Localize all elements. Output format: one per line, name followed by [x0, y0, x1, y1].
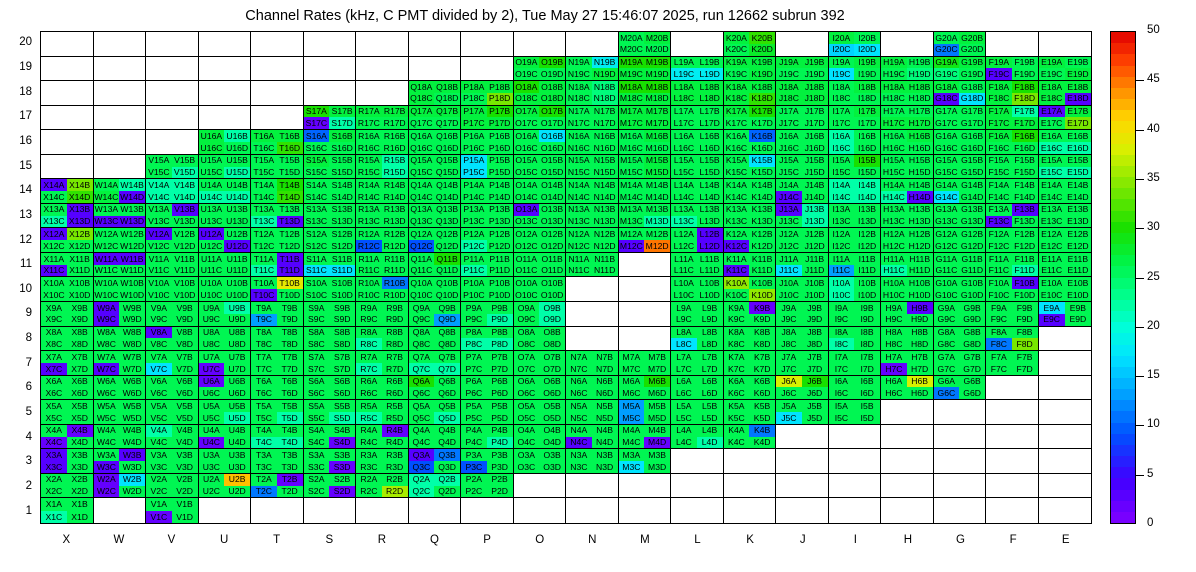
channel-V9C: V9C: [146, 314, 172, 326]
channel-O3D: O3D: [539, 461, 565, 473]
channel-R11A: R11A: [356, 253, 382, 265]
channel-T2B: T2B: [277, 474, 303, 486]
x-axis-label-X: X: [40, 534, 93, 546]
channel-I6A: I6A: [829, 376, 855, 388]
channel-R7D: R7D: [382, 363, 408, 375]
channel-S17D: S17D: [329, 117, 355, 129]
channel-J5B: J5B: [802, 400, 828, 412]
heatmap-cell: P10AP10BP10CP10D: [461, 277, 514, 302]
heatmap-cell: X3AX3BX3CX3D: [41, 449, 94, 474]
channel-F16A: F16A: [986, 130, 1012, 142]
channel-S17B: S17B: [329, 106, 355, 118]
channel-V10B: V10B: [172, 277, 198, 289]
channel-V13D: V13D: [172, 216, 198, 228]
channel-N19B: N19B: [592, 57, 618, 69]
channel-O19D: O19D: [539, 68, 565, 80]
channel-R13B: R13B: [382, 204, 408, 216]
heatmap-cell: U15AU15BU15CU15D: [199, 155, 252, 180]
y-axis-label-4: 4: [6, 431, 32, 443]
channel-Q16D: Q16D: [434, 142, 460, 154]
channel-R3C: R3C: [356, 461, 382, 473]
channel-S2A: S2A: [304, 474, 330, 486]
channel-P18C: P18C: [461, 93, 487, 105]
channel-N19C: N19C: [566, 68, 592, 80]
heatmap-cell: S17AS17BS17CS17D: [304, 106, 357, 131]
channel-F10B: F10B: [1012, 277, 1038, 289]
channel-V7C: V7C: [146, 363, 172, 375]
channel-X14D: X14D: [67, 191, 93, 203]
channel-P16D: P16D: [487, 142, 513, 154]
channel-H18D: H18D: [907, 93, 933, 105]
channel-G6C: G6C: [934, 387, 960, 399]
channel-R9C: R9C: [356, 314, 382, 326]
channel-K15D: K15D: [749, 167, 775, 179]
channel-S11D: S11D: [329, 265, 355, 277]
channel-V4B: V4B: [172, 425, 198, 437]
channel-M17D: M17D: [644, 117, 670, 129]
channel-N11C: N11C: [566, 265, 592, 277]
channel-E15A: E15A: [1039, 155, 1065, 167]
channel-Q15C: Q15C: [409, 167, 435, 179]
heatmap-cell: Q6AQ6BQ6CQ6D: [409, 376, 462, 401]
channel-U3A: U3A: [199, 449, 225, 461]
channel-H15D: H15D: [907, 167, 933, 179]
channel-H10C: H10C: [881, 289, 907, 301]
channel-T5A: T5A: [251, 400, 277, 412]
channel-N18A: N18A: [566, 81, 592, 93]
channel-V8A: V8A: [146, 327, 172, 339]
channel-J5C: J5C: [776, 412, 802, 424]
heatmap-cell: H8AH8BH8CH8D: [881, 327, 934, 352]
heatmap-cell: K15AK15BK15CK15D: [724, 155, 777, 180]
channel-U11A: U11A: [199, 253, 225, 265]
channel-O6D: O6D: [539, 387, 565, 399]
channel-O14B: O14B: [539, 179, 565, 191]
channel-X5C: X5C: [41, 412, 67, 424]
heatmap-cell: F7AF7BF7CF7D: [986, 351, 1039, 376]
channel-G7D: G7D: [959, 363, 985, 375]
heatmap-cell: X7AX7BX7CX7D: [41, 351, 94, 376]
y-axis-label-16: 16: [6, 135, 32, 147]
heatmap-cell: [514, 474, 567, 499]
heatmap-cell: [934, 474, 987, 499]
heatmap-cell: [1039, 474, 1092, 499]
heatmap-cell: J6AJ6BJ6CJ6D: [776, 376, 829, 401]
channel-R9D: R9D: [382, 314, 408, 326]
channel-V1D: V1D: [172, 511, 198, 523]
channel-M5B: M5B: [644, 400, 670, 412]
channel-T6D: T6D: [277, 387, 303, 399]
channel-M6A: M6A: [619, 376, 645, 388]
channel-J18D: J18D: [802, 93, 828, 105]
heatmap-cell: [776, 425, 829, 450]
colorbar-band: [1111, 300, 1135, 311]
channel-V12B: V12B: [172, 228, 198, 240]
channel-M17A: M17A: [619, 106, 645, 118]
channel-O3A: O3A: [514, 449, 540, 461]
channel-W3A: W3A: [94, 449, 120, 461]
channel-I15B: I15B: [854, 155, 880, 167]
heatmap-cell: N3AN3BN3CN3D: [566, 449, 619, 474]
heatmap-cell: J10AJ10BJ10CJ10D: [776, 277, 829, 302]
channel-E11C: E11C: [1039, 265, 1065, 277]
channel-L18B: L18B: [697, 81, 723, 93]
colorbar-band: [1111, 43, 1135, 54]
channel-N17C: N17C: [566, 117, 592, 129]
channel-R5C: R5C: [356, 412, 382, 424]
colorbar-label-15: 15: [1147, 369, 1160, 381]
heatmap-cell: [724, 449, 777, 474]
heatmap-cell: [41, 106, 94, 131]
channel-P7A: P7A: [461, 351, 487, 363]
channel-V8D: V8D: [172, 338, 198, 350]
channel-K19D: K19D: [749, 68, 775, 80]
channel-T9B: T9B: [277, 302, 303, 314]
channel-W8C: W8C: [94, 338, 120, 350]
heatmap-cell: P8AP8BP8CP8D: [461, 327, 514, 352]
channel-L18D: L18D: [697, 93, 723, 105]
channel-K14A: K14A: [724, 179, 750, 191]
heatmap-cell: K20AK20BK20CK20D: [724, 32, 777, 57]
colorbar-band: [1111, 121, 1135, 132]
heatmap-cell: H16AH16BH16CH16D: [881, 130, 934, 155]
channel-H11B: H11B: [907, 253, 933, 265]
channel-K14D: K14D: [749, 191, 775, 203]
channel-Q5C: Q5C: [409, 412, 435, 424]
channel-S3B: S3B: [329, 449, 355, 461]
heatmap-cell: M3AM3BM3CM3D: [619, 449, 672, 474]
channel-J19C: J19C: [776, 68, 802, 80]
channel-F15B: F15B: [1012, 155, 1038, 167]
channel-Q7C: Q7C: [409, 363, 435, 375]
channel-G11B: G11B: [959, 253, 985, 265]
channel-H6A: H6A: [881, 376, 907, 388]
heatmap-cell: W7AW7BW7CW7D: [94, 351, 147, 376]
channel-U6C: U6C: [199, 387, 225, 399]
channel-Q2A: Q2A: [409, 474, 435, 486]
channel-W14B: W14B: [119, 179, 145, 191]
channel-N16D: N16D: [592, 142, 618, 154]
channel-S3D: S3D: [329, 461, 355, 473]
channel-I13C: I13C: [829, 216, 855, 228]
y-axis-label-9: 9: [6, 307, 32, 319]
channel-S6B: S6B: [329, 376, 355, 388]
channel-F16C: F16C: [986, 142, 1012, 154]
channel-F9B: F9B: [1012, 302, 1038, 314]
heatmap-cell: O5AO5BO5CO5D: [514, 400, 567, 425]
colorbar-band: [1111, 155, 1135, 166]
heatmap-cell: P11AP11BP11CP11D: [461, 253, 514, 278]
heatmap-cell: E11AE11BE11CE11D: [1039, 253, 1092, 278]
channel-H17A: H17A: [881, 106, 907, 118]
channel-L19D: L19D: [697, 68, 723, 80]
channel-U12C: U12C: [199, 240, 225, 252]
channel-G19C: G19C: [934, 68, 960, 80]
channel-R2B: R2B: [382, 474, 408, 486]
channel-V5D: V5D: [172, 412, 198, 424]
heatmap-cell: M7AM7BM7CM7D: [619, 351, 672, 376]
channel-N4C: N4C: [566, 437, 592, 449]
channel-X5A: X5A: [41, 400, 67, 412]
channel-T5B: T5B: [277, 400, 303, 412]
heatmap-cell: T10AT10BT10CT10D: [251, 277, 304, 302]
channel-E19A: E19A: [1039, 57, 1065, 69]
channel-X11B: X11B: [67, 253, 93, 265]
channel-O13A: O13A: [514, 204, 540, 216]
channel-T13B: T13B: [277, 204, 303, 216]
heatmap-cell: [986, 498, 1039, 523]
channel-F15A: F15A: [986, 155, 1012, 167]
channel-U8A: U8A: [199, 327, 225, 339]
channel-V3C: V3C: [146, 461, 172, 473]
heatmap-cell: H17AH17BH17CH17D: [881, 106, 934, 131]
heatmap-cell: [461, 498, 514, 523]
channel-P12B: P12B: [487, 228, 513, 240]
channel-K12C: K12C: [724, 240, 750, 252]
channel-X13A: X13A: [41, 204, 67, 216]
channel-J11D: J11D: [802, 265, 828, 277]
channel-R8A: R8A: [356, 327, 382, 339]
channel-P5B: P5B: [487, 400, 513, 412]
channel-H18C: H18C: [881, 93, 907, 105]
colorbar-band: [1111, 54, 1135, 65]
channel-J14B: J14B: [802, 179, 828, 191]
channel-M16A: M16A: [619, 130, 645, 142]
channel-F11D: F11D: [1012, 265, 1038, 277]
channel-J14A: J14A: [776, 179, 802, 191]
channel-L4A: L4A: [671, 425, 697, 437]
channel-V13A: V13A: [146, 204, 172, 216]
channel-R9B: R9B: [382, 302, 408, 314]
channel-K20C: K20C: [724, 44, 750, 56]
channel-Q12D: Q12D: [434, 240, 460, 252]
channel-M15A: M15A: [619, 155, 645, 167]
channel-W13D: W13D: [119, 216, 145, 228]
heatmap-cell: [251, 81, 304, 106]
heatmap-cell: Q11AQ11BQ11CQ11D: [409, 253, 462, 278]
channel-M6C: M6C: [619, 387, 645, 399]
channel-T11A: T11A: [251, 253, 277, 265]
channel-W10B: W10B: [119, 277, 145, 289]
channel-S12A: S12A: [304, 228, 330, 240]
channel-P10D: P10D: [487, 289, 513, 301]
channel-F9A: F9A: [986, 302, 1012, 314]
channel-M12A: M12A: [619, 228, 645, 240]
heatmap-cell: J16AJ16BJ16CJ16D: [776, 130, 829, 155]
channel-M20C: M20C: [619, 44, 645, 56]
channel-P12C: P12C: [461, 240, 487, 252]
channel-K17A: K17A: [724, 106, 750, 118]
heatmap-cell: M4AM4BM4CM4D: [619, 425, 672, 450]
heatmap-cell: F12AF12BF12CF12D: [986, 228, 1039, 253]
channel-S14B: S14B: [329, 179, 355, 191]
x-axis-label-G: G: [934, 534, 987, 546]
channel-Q12A: Q12A: [409, 228, 435, 240]
heatmap-cell: K5AK5BK5CK5D: [724, 400, 777, 425]
colorbar-band: [1111, 199, 1135, 210]
channel-J14D: J14D: [802, 191, 828, 203]
channel-U10D: U10D: [224, 289, 250, 301]
channel-G20D: G20D: [959, 44, 985, 56]
channel-U12B: U12B: [224, 228, 250, 240]
channel-F19C: F19C: [986, 68, 1012, 80]
channel-E16B: E16B: [1065, 130, 1091, 142]
channel-X10A: X10A: [41, 277, 67, 289]
heatmap-cell: J19AJ19BJ19CJ19D: [776, 57, 829, 82]
channel-H13B: H13B: [907, 204, 933, 216]
channel-V12D: V12D: [172, 240, 198, 252]
channel-P3A: P3A: [461, 449, 487, 461]
colorbar-band: [1111, 501, 1135, 512]
channel-N6C: N6C: [566, 387, 592, 399]
channel-J9B: J9B: [802, 302, 828, 314]
channel-X8D: X8D: [67, 338, 93, 350]
heatmap-cell: I8AI8BI8CI8D: [829, 327, 882, 352]
channel-P8C: P8C: [461, 338, 487, 350]
channel-E9A: E9A: [1039, 302, 1065, 314]
channel-V3A: V3A: [146, 449, 172, 461]
channel-N12C: N12C: [566, 240, 592, 252]
channel-N15B: N15B: [592, 155, 618, 167]
channel-U16D: U16D: [224, 142, 250, 154]
channel-F17D: F17D: [1012, 117, 1038, 129]
channel-L7C: L7C: [671, 363, 697, 375]
channel-K8B: K8B: [749, 327, 775, 339]
channel-P9A: P9A: [461, 302, 487, 314]
channel-O4D: O4D: [539, 437, 565, 449]
channel-O6A: O6A: [514, 376, 540, 388]
channel-J11C: J11C: [776, 265, 802, 277]
channel-O3B: O3B: [539, 449, 565, 461]
channel-I20A: I20A: [829, 32, 855, 44]
channel-J15B: J15B: [802, 155, 828, 167]
channel-X5D: X5D: [67, 412, 93, 424]
channel-V2A: V2A: [146, 474, 172, 486]
channel-J7B: J7B: [802, 351, 828, 363]
channel-L19A: L19A: [671, 57, 697, 69]
channel-R12D: R12D: [382, 240, 408, 252]
channel-V9A: V9A: [146, 302, 172, 314]
channel-H17C: H17C: [881, 117, 907, 129]
channel-H16D: H16D: [907, 142, 933, 154]
channel-T14D: T14D: [277, 191, 303, 203]
channel-X9A: X9A: [41, 302, 67, 314]
channel-V12A: V12A: [146, 228, 172, 240]
channel-E12C: E12C: [1039, 240, 1065, 252]
heatmap-cell: Q14AQ14BQ14CQ14D: [409, 179, 462, 204]
channel-I19B: I19B: [854, 57, 880, 69]
channel-G17B: G17B: [959, 106, 985, 118]
heatmap-cell: V1AV1BV1CV1D: [146, 498, 199, 523]
channel-Q8A: Q8A: [409, 327, 435, 339]
channel-H10D: H10D: [907, 289, 933, 301]
channel-Q9D: Q9D: [434, 314, 460, 326]
heatmap-cell: [829, 498, 882, 523]
channel-R14C: R14C: [356, 191, 382, 203]
heatmap-cell: W11AW11BW11CW11D: [94, 253, 147, 278]
channel-Q14A: Q14A: [409, 179, 435, 191]
channel-I10C: I10C: [829, 289, 855, 301]
channel-J7A: J7A: [776, 351, 802, 363]
channel-U10B: U10B: [224, 277, 250, 289]
channel-U9B: U9B: [224, 302, 250, 314]
heatmap-cell: J12AJ12BJ12CJ12D: [776, 228, 829, 253]
colorbar-band: [1111, 400, 1135, 411]
channel-J8D: J8D: [802, 338, 828, 350]
channel-H13A: H13A: [881, 204, 907, 216]
heatmap-cell: [566, 498, 619, 523]
channel-P12A: P12A: [461, 228, 487, 240]
heatmap-cell: I20AI20BI20CI20D: [829, 32, 882, 57]
heatmap-cell: X14AX14BX14CX14D: [41, 179, 94, 204]
channel-P5D: P5D: [487, 412, 513, 424]
channel-L11D: L11D: [697, 265, 723, 277]
channel-J9D: J9D: [802, 314, 828, 326]
heatmap-cell: X6AX6BX6CX6D: [41, 376, 94, 401]
channel-G12A: G12A: [934, 228, 960, 240]
heatmap-cell: N5AN5BN5CN5D: [566, 400, 619, 425]
channel-K16C: K16C: [724, 142, 750, 154]
channel-W13A: W13A: [94, 204, 120, 216]
heatmap-cell: I19AI19BI19CI19D: [829, 57, 882, 82]
channel-E19B: E19B: [1065, 57, 1091, 69]
colorbar-band: [1111, 434, 1135, 445]
heatmap-cell: [356, 498, 409, 523]
channel-T12C: T12C: [251, 240, 277, 252]
heatmap-cell: S8AS8BS8CS8D: [304, 327, 357, 352]
channel-R10C: R10C: [356, 289, 382, 301]
channel-U10A: U10A: [199, 277, 225, 289]
heatmap-cell: [41, 130, 94, 155]
heatmap-cell: N13AN13BN13CN13D: [566, 204, 619, 229]
channel-W5D: W5D: [119, 412, 145, 424]
channel-H16A: H16A: [881, 130, 907, 142]
heatmap-cell: F11AF11BF11CF11D: [986, 253, 1039, 278]
channel-K7A: K7A: [724, 351, 750, 363]
channel-L14A: L14A: [671, 179, 697, 191]
channel-L7D: L7D: [697, 363, 723, 375]
channel-S10B: S10B: [329, 277, 355, 289]
channel-G14C: G14C: [934, 191, 960, 203]
colorbar-band: [1111, 289, 1135, 300]
channel-T3A: T3A: [251, 449, 277, 461]
colorbar-label-45: 45: [1147, 73, 1160, 85]
channel-Q4B: Q4B: [434, 425, 460, 437]
channel-G12D: G12D: [959, 240, 985, 252]
channel-H13C: H13C: [881, 216, 907, 228]
channel-M5D: M5D: [644, 412, 670, 424]
channel-W13C: W13C: [94, 216, 120, 228]
channel-L10C: L10C: [671, 289, 697, 301]
channel-H9B: H9B: [907, 302, 933, 314]
colorbar-band: [1111, 266, 1135, 277]
heatmap-cell: E9AE9BE9CE9D: [1039, 302, 1092, 327]
channel-U13B: U13B: [224, 204, 250, 216]
channel-R2D: R2D: [382, 486, 408, 498]
channel-S7A: S7A: [304, 351, 330, 363]
channel-V2C: V2C: [146, 486, 172, 498]
channel-J13C: J13C: [776, 216, 802, 228]
channel-J16D: J16D: [802, 142, 828, 154]
channel-F10C: F10C: [986, 289, 1012, 301]
channel-J18C: J18C: [776, 93, 802, 105]
channel-I12C: I12C: [829, 240, 855, 252]
heatmap-cell: E10AE10BE10CE10D: [1039, 277, 1092, 302]
channel-X11A: X11A: [41, 253, 67, 265]
heatmap-cell: K17AK17BK17CK17D: [724, 106, 777, 131]
heatmap-cell: P16AP16BP16CP16D: [461, 130, 514, 155]
heatmap-cell: V7AV7BV7CV7D: [146, 351, 199, 376]
